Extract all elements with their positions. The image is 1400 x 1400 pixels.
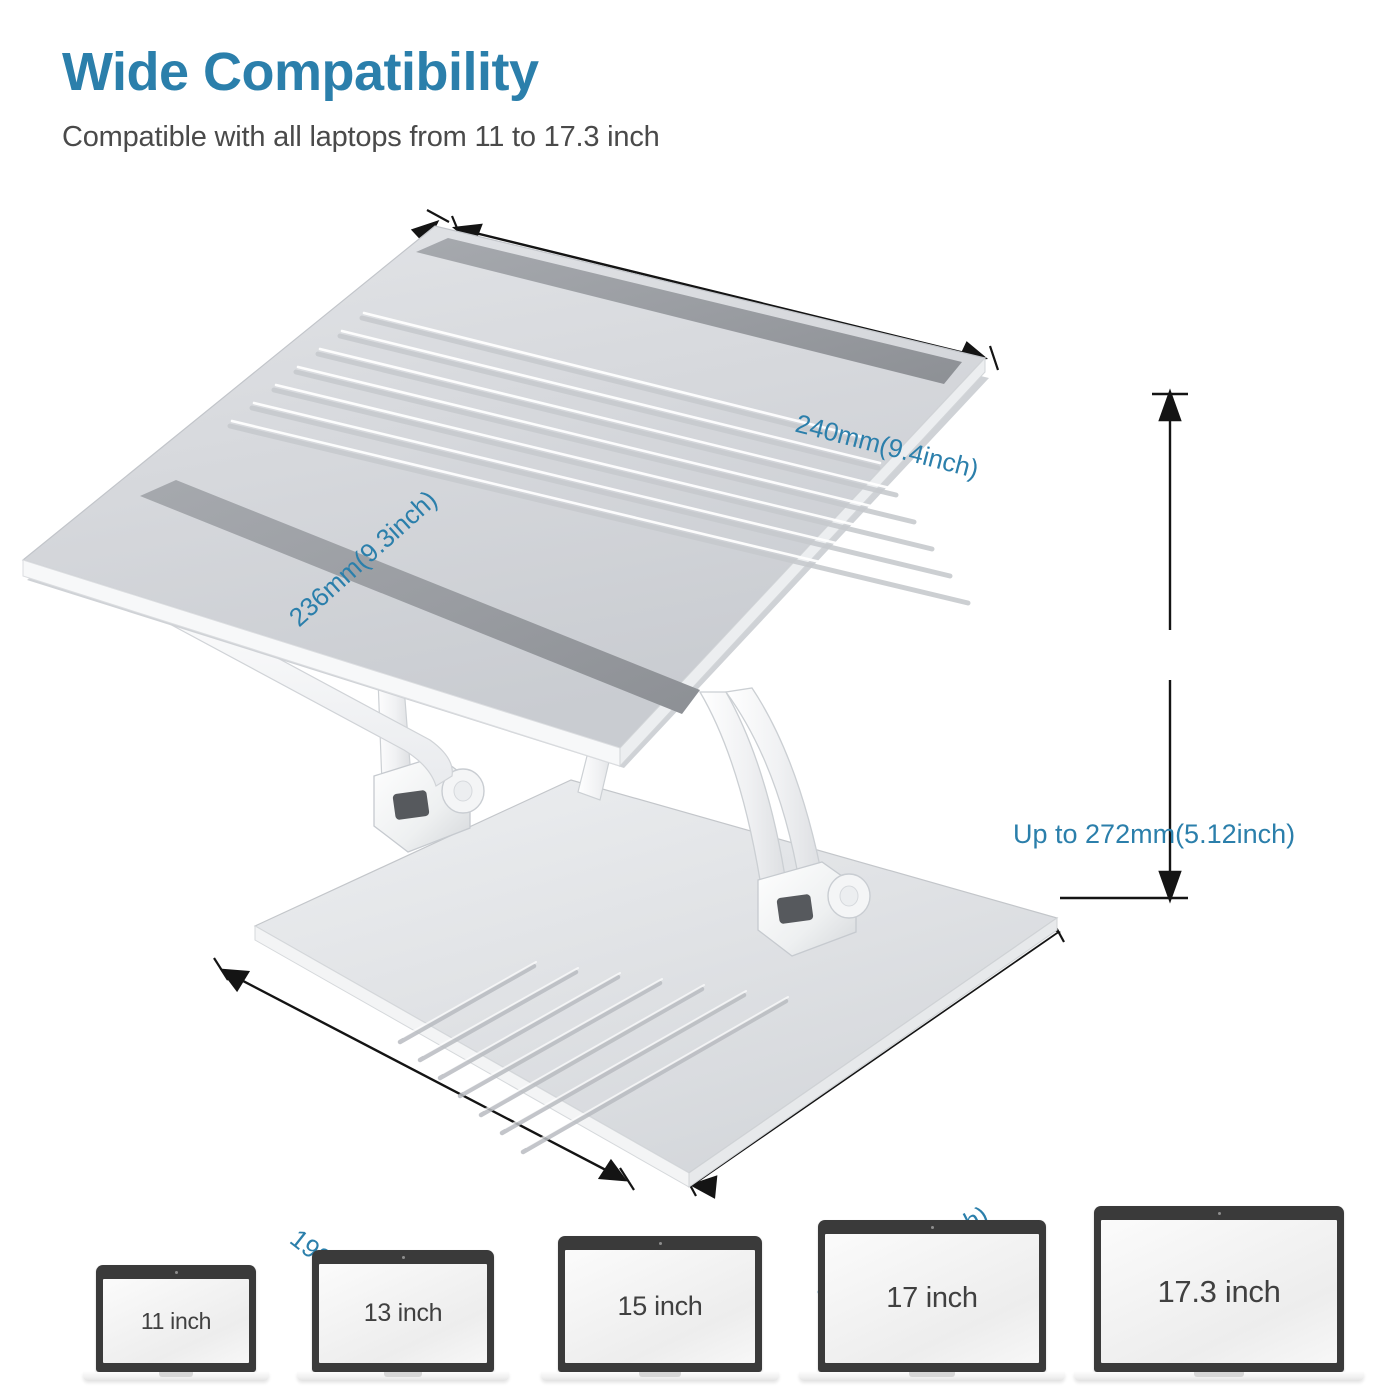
laptop-notch <box>384 1372 422 1377</box>
laptop-screen: 17 inch <box>825 1234 1039 1363</box>
laptop-lid: 15 inch <box>558 1236 762 1372</box>
laptop-screen: 13 inch <box>319 1264 487 1363</box>
laptop-screen: 11 inch <box>103 1279 249 1363</box>
laptop-size-label: 17 inch <box>886 1282 977 1315</box>
laptop-stand-drawing <box>0 180 1400 1220</box>
laptop-screen: 15 inch <box>565 1250 755 1363</box>
laptop-base <box>83 1372 269 1381</box>
laptop-size-comparison-row: 11 inch 13 inch 15 inch <box>0 1200 1400 1400</box>
laptop-notch <box>1194 1372 1244 1377</box>
webcam-icon <box>175 1271 178 1274</box>
laptop-lid: 17 inch <box>818 1220 1046 1372</box>
laptop-15-inch: 15 inch <box>558 1236 762 1372</box>
webcam-icon <box>1218 1212 1221 1215</box>
laptop-notch <box>639 1372 681 1377</box>
laptop-notch <box>909 1372 955 1377</box>
laptop-base <box>1074 1372 1364 1381</box>
laptop-13-inch: 13 inch <box>312 1250 494 1372</box>
stand-base-plate <box>255 780 1057 1187</box>
laptop-base <box>799 1372 1065 1381</box>
laptop-base <box>541 1372 779 1381</box>
webcam-icon <box>402 1256 405 1259</box>
laptop-17-inch: 17 inch <box>818 1220 1046 1372</box>
laptop-lid: 17.3 inch <box>1094 1206 1344 1372</box>
laptop-size-label: 17.3 inch <box>1157 1274 1280 1310</box>
page-title: Wide Compatibility <box>62 44 962 101</box>
laptop-17-3-inch: 17.3 inch <box>1094 1206 1344 1372</box>
laptop-size-label: 13 inch <box>364 1299 443 1328</box>
laptop-size-label: 15 inch <box>618 1291 703 1322</box>
webcam-icon <box>931 1226 934 1229</box>
laptop-notch <box>159 1372 193 1377</box>
laptop-lid: 11 inch <box>96 1265 256 1372</box>
laptop-lid: 13 inch <box>312 1250 494 1372</box>
laptop-size-label: 11 inch <box>141 1308 211 1335</box>
header-block: Wide Compatibility Compatible with all l… <box>62 44 962 154</box>
laptop-base <box>297 1372 509 1381</box>
webcam-icon <box>659 1242 662 1245</box>
product-illustration: 240mm(9.4inch) 236mm(9.3inch) Up to 272m… <box>0 180 1400 1220</box>
laptop-11-inch: 11 inch <box>96 1265 256 1372</box>
page-subtitle: Compatible with all laptops from 11 to 1… <box>62 101 962 154</box>
stand-top-plate <box>23 226 989 768</box>
dimension-label-height: Up to 272mm(5.12inch) <box>1013 819 1295 850</box>
laptop-screen: 17.3 inch <box>1101 1220 1337 1363</box>
